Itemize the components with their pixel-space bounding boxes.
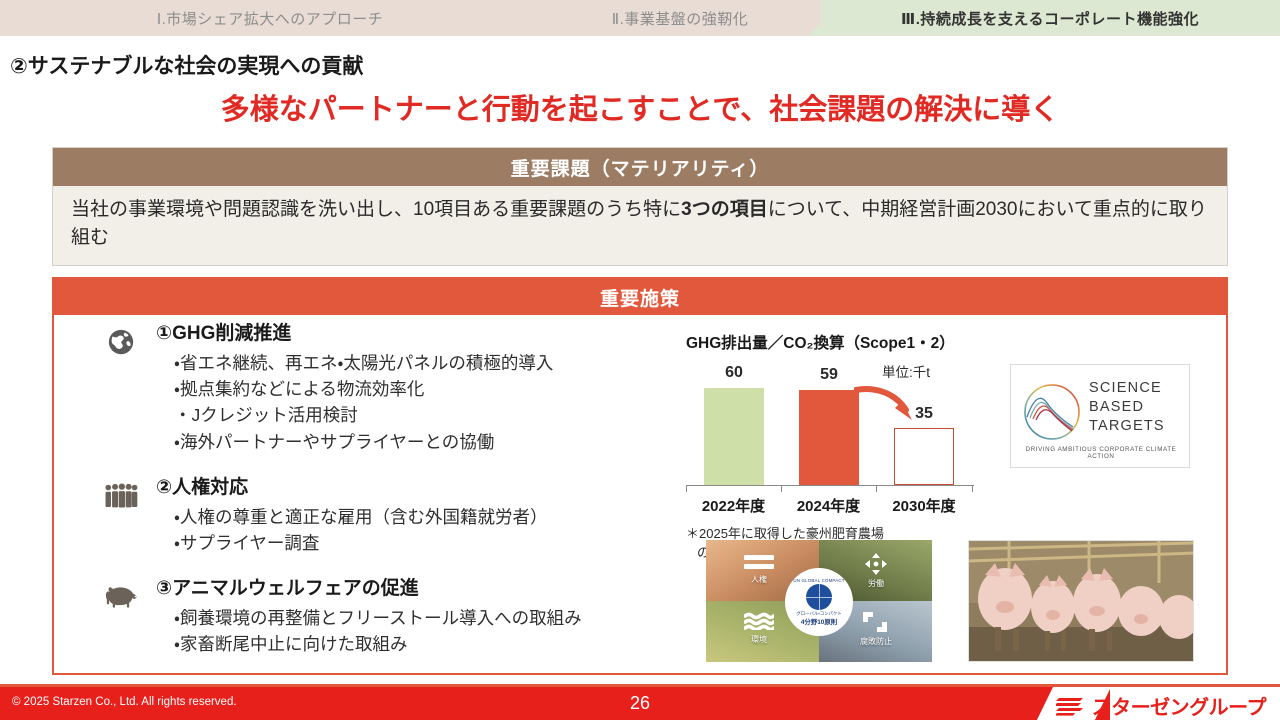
starzen-group-logo: スターゼングループ <box>1056 691 1266 720</box>
ghg-chart: GHG排出量／CO₂換算（Scope1・2） 60 59 35 単位:千t <box>686 331 986 563</box>
chart-x-label: 2030年度 <box>876 495 972 516</box>
sbt-line-1: SCIENCE <box>1089 379 1165 398</box>
chart-x-label: 2024年度 <box>781 495 876 516</box>
section-label: ②サステナブルな社会の実現への貢献 <box>10 50 363 80</box>
measures-list: ①GHG削減推進 ・省エネ継続、再エネ・太陽光パネルの積極的導入 ・拠点集約など… <box>100 323 710 671</box>
arrows-inward-icon <box>864 552 888 576</box>
chart-axis-tick <box>781 485 782 492</box>
measure-item-ghg: ①GHG削減推進 ・省エネ継続、再エネ・太陽光パネルの積極的導入 ・拠点集約など… <box>100 323 710 455</box>
sbt-logo-text: SCIENCE BASED TARGETS <box>1089 379 1165 436</box>
measure-bullet: ・拠点集約などによる物流効率化 <box>174 376 710 402</box>
pig-icon <box>100 580 142 614</box>
key-measures-header: 重要施策 <box>54 279 1226 315</box>
measure-title: ①GHG削減推進 <box>156 323 710 346</box>
measure-bullet: ・家畜断尾中止に向けた取組み <box>174 631 710 657</box>
chart-x-labels: 2022年度 2024年度 2030年度 <box>686 495 974 519</box>
ungc-label: 環境 <box>729 634 789 645</box>
brand-name: スターゼングループ <box>1092 691 1266 720</box>
materiality-header: 重要課題（マテリアリティ） <box>53 148 1227 186</box>
measure-bullets: ・飼養環境の再整備とフリーストール導入への取組み ・家畜断尾中止に向けた取組み <box>174 605 710 658</box>
chart-x-label: 2022年度 <box>686 495 781 516</box>
globe-icon <box>100 325 142 359</box>
ungc-badge-bottom: 4分野10原則 <box>801 617 837 626</box>
tab-corporate-function[interactable]: Ⅲ.持続成長を支えるコーポレート機能強化 <box>820 0 1280 36</box>
measure-item-human-rights: ②人権対応 ・人権の尊重と適正な雇用（含む外国籍就労者） ・サプライヤー調査 <box>100 477 710 556</box>
ungc-badge-top: UN GLOBAL COMPACT <box>793 578 844 583</box>
materiality-panel: 重要課題（マテリアリティ） 当社の事業環境や問題認識を洗い出し、10項目ある重要… <box>52 147 1228 266</box>
ungc-badge: UN GLOBAL COMPACT グローバル・コンパクト 4分野10原則 <box>785 568 853 636</box>
broken-link-icon <box>862 610 888 634</box>
chart-reduction-arrow <box>854 384 920 426</box>
chart-unit-label: 単位:千t <box>882 361 930 381</box>
globe-badge-icon <box>806 584 832 610</box>
ungc-quadrants: 人権 労働 環境 <box>706 540 932 662</box>
chart-plot-area: 60 59 35 単位:千t <box>686 367 974 485</box>
chart-axis-tick <box>972 485 973 492</box>
pig-farm-photo <box>968 540 1194 662</box>
equals-icon <box>744 554 774 570</box>
measure-title: ②人権対応 <box>156 477 710 500</box>
people-group-icon <box>100 479 142 513</box>
sbt-line-3: TARGETS <box>1089 417 1165 436</box>
sbt-tagline: DRIVING AMBITIOUS CORPORATE CLIMATE ACTI… <box>1019 446 1183 460</box>
materiality-text-part1: 当社の事業環境や問題認識を洗い出し、10項目ある重要課題のうち特に <box>71 199 681 220</box>
measure-bullet: ・海外パートナーやサプライヤーとの協働 <box>174 429 710 455</box>
chart-bar-2030: 35 <box>894 428 954 485</box>
materiality-body: 当社の事業環境や問題認識を洗い出し、10項目ある重要課題のうち特に3つの項目につ… <box>53 186 1227 265</box>
section-tabbar: Ⅰ.市場シェア拡大へのアプローチ Ⅱ.事業基盤の強靭化 Ⅲ.持続成長を支えるコー… <box>0 0 1280 36</box>
measure-bullet: ・サプライヤー調査 <box>174 530 710 556</box>
chart-axis-tick <box>876 485 877 492</box>
chart-bar-2024: 59 <box>799 390 859 485</box>
chart-bar-2022: 60 <box>704 388 764 485</box>
slide-footer: © 2025 Starzen Co., Ltd. All rights rese… <box>0 687 1280 720</box>
key-measures-panel: 重要施策 ①GHG削減推進 ・省エネ継続、再エネ・太陽光パネルの積極的導入 ・拠… <box>52 277 1228 675</box>
tab-label: Ⅱ.事業基盤の強靭化 <box>612 8 749 29</box>
chart-x-axis <box>686 485 974 486</box>
tab-label: Ⅰ.市場シェア拡大へのアプローチ <box>157 8 384 29</box>
water-waves-icon <box>744 612 774 630</box>
measure-bullet: ・飼養環境の再整備とフリーストール導入への取組み <box>174 605 710 631</box>
materiality-text-bold: 3つの項目 <box>681 199 768 220</box>
tab-business-foundation[interactable]: Ⅱ.事業基盤の強靭化 <box>540 0 820 36</box>
page-title: 多様なパートナーと行動を起こすことで、社会課題の解決に導く <box>0 86 1280 128</box>
ungc-label: 人権 <box>729 574 789 585</box>
sbt-line-2: BASED <box>1089 398 1165 417</box>
chart-axis-tick <box>686 485 687 492</box>
science-based-targets-logo: SCIENCE BASED TARGETS DRIVING AMBITIOUS … <box>1010 364 1190 468</box>
un-global-compact-image: 人権 労働 環境 <box>706 540 932 662</box>
chart-title: GHG排出量／CO₂換算（Scope1・2） <box>686 331 986 353</box>
measure-title: ③アニマルウェルフェアの促進 <box>156 578 710 601</box>
measure-bullets: ・省エネ継続、再エネ・太陽光パネルの積極的導入 ・拠点集約などによる物流効率化 … <box>174 350 710 455</box>
measure-bullet: ・省エネ継続、再エネ・太陽光パネルの積極的導入 <box>174 350 710 376</box>
starzen-stripe-mark <box>1056 696 1086 716</box>
tab-approach-market-share[interactable]: Ⅰ.市場シェア拡大へのアプローチ <box>0 0 540 36</box>
ungc-label: 労働 <box>846 578 906 589</box>
measure-bullet: ・人権の尊重と適正な雇用（含む外国籍就労者） <box>174 504 710 530</box>
slide-root: Ⅰ.市場シェア拡大へのアプローチ Ⅱ.事業基盤の強靭化 Ⅲ.持続成長を支えるコー… <box>0 0 1280 720</box>
tab-label: Ⅲ.持続成長を支えるコーポレート機能強化 <box>901 8 1199 29</box>
chart-bar-value: 60 <box>704 364 764 382</box>
measure-item-animal-welfare: ③アニマルウェルフェアの促進 ・飼養環境の再整備とフリーストール導入への取組み … <box>100 578 710 657</box>
chart-bar-value: 59 <box>799 366 859 384</box>
ungc-label: 腐敗防止 <box>846 636 906 647</box>
measure-bullets: ・人権の尊重と適正な雇用（含む外国籍就労者） ・サプライヤー調査 <box>174 504 710 557</box>
measure-bullet: ・Jクレジット活用検討 <box>174 402 710 428</box>
